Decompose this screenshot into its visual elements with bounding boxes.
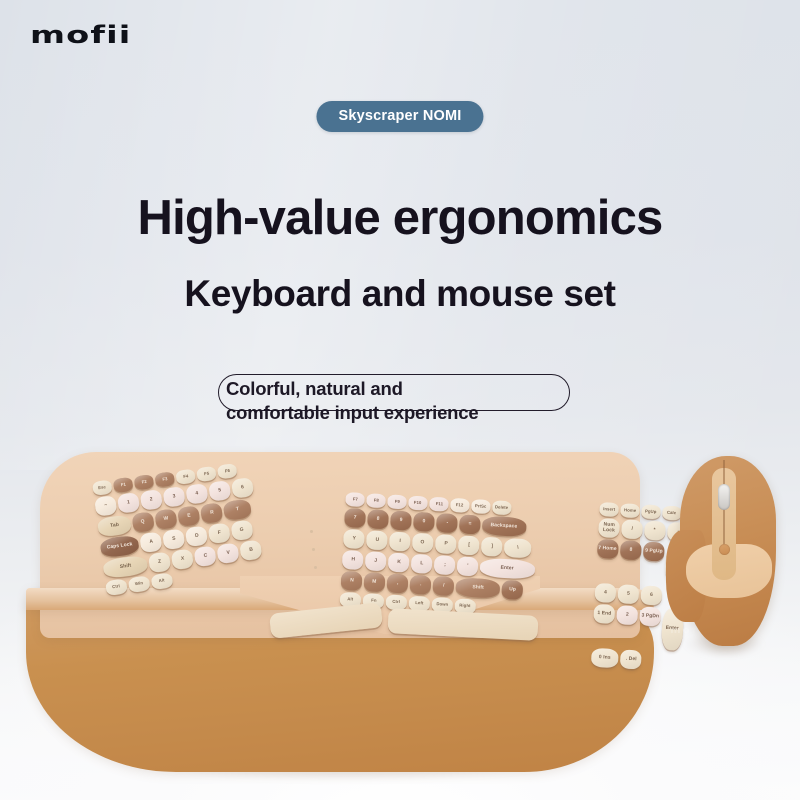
keycap-q: Q bbox=[132, 511, 155, 533]
keycap-t: T bbox=[223, 499, 252, 521]
keycap-enter: Enter bbox=[479, 558, 535, 580]
indicator-led bbox=[314, 566, 317, 569]
indicator-led bbox=[312, 548, 315, 551]
keycap-s: S bbox=[162, 529, 185, 551]
keycap-: ~ bbox=[94, 495, 117, 517]
keycap-6: 6 bbox=[231, 477, 254, 499]
keycap-del: . Del bbox=[620, 649, 642, 669]
keycap-5: 5 bbox=[617, 584, 639, 604]
keycap-: ; bbox=[434, 555, 456, 575]
keycap-j: J bbox=[365, 551, 387, 571]
keycap-8: 8 bbox=[620, 540, 642, 560]
keycap-home: Home bbox=[620, 503, 640, 518]
keycap-: / bbox=[432, 576, 454, 596]
keycap-9: 9 bbox=[390, 511, 412, 531]
keycap-v: V bbox=[216, 543, 239, 565]
keycap-1-end: 1 End bbox=[593, 604, 615, 624]
keycap-up: Up bbox=[501, 580, 523, 600]
keycap-2: 2 bbox=[616, 605, 638, 625]
keycap-delete: Delete bbox=[492, 500, 512, 515]
keycap-f: F bbox=[208, 523, 231, 545]
keycap-w: W bbox=[154, 508, 177, 530]
keycap-: = bbox=[459, 514, 481, 534]
indicator-led bbox=[310, 530, 313, 533]
keycap-f2: F2 bbox=[134, 474, 155, 490]
keycap-prtsc: PrtSc bbox=[471, 499, 491, 514]
keycap-y: Y bbox=[343, 529, 365, 549]
keycap-backspace: Backspace bbox=[482, 516, 527, 537]
keycap-8: 8 bbox=[367, 509, 389, 529]
keycap-g: G bbox=[230, 520, 253, 542]
keycap-3-pgdn: 3 PgDn bbox=[639, 606, 661, 626]
keycap-esc: Esc bbox=[92, 480, 113, 496]
keycap-: , bbox=[386, 573, 408, 593]
keycap-: - bbox=[436, 513, 458, 533]
keycap-o: O bbox=[412, 533, 434, 553]
tagline-text: Colorful, natural and comfortable input … bbox=[226, 377, 646, 425]
keycap-num-lock: Num Lock bbox=[598, 518, 620, 538]
wireless-mouse bbox=[666, 456, 782, 656]
keycap-9-pgup: 9 PgUp bbox=[643, 542, 665, 562]
keycap-l: L bbox=[411, 554, 433, 574]
keycap-insert: Insert bbox=[599, 502, 619, 517]
keycap-4: 4 bbox=[594, 583, 616, 603]
keycap-2: 2 bbox=[140, 489, 163, 511]
keyboard-right-cluster: F7F8F9F10F11F12PrtScDelete7890-=Backspac… bbox=[340, 492, 539, 618]
keycap-7-home: 7 Home bbox=[597, 539, 619, 559]
keycap-f1: F1 bbox=[113, 477, 134, 493]
keycap-: [ bbox=[458, 535, 480, 555]
keycap-x: X bbox=[171, 549, 194, 571]
keycap-: * bbox=[644, 521, 666, 541]
keycap-1: 1 bbox=[117, 492, 140, 514]
keycap-0: 0 bbox=[413, 512, 435, 532]
keycap-: ] bbox=[481, 537, 503, 557]
keycap-win: Win bbox=[128, 575, 151, 593]
keycap-d: D bbox=[185, 526, 208, 548]
keycap-tab: Tab bbox=[97, 514, 132, 537]
keycap-f6: F6 bbox=[217, 463, 238, 479]
keycap-f9: F9 bbox=[387, 494, 407, 509]
keycap-: ' bbox=[457, 556, 479, 576]
keycap-z: Z bbox=[148, 552, 171, 574]
mouse-dpi-button bbox=[719, 544, 730, 555]
keycap-f8: F8 bbox=[366, 493, 386, 508]
keycap-u: U bbox=[366, 530, 388, 550]
keycap-caps-lock: Caps Lock bbox=[100, 535, 140, 559]
product-photo: EscF1F2F3F4F5F6~123456TabQWERTCaps LockA… bbox=[0, 430, 800, 800]
keycap-f11: F11 bbox=[429, 497, 449, 512]
keycap-6: 6 bbox=[640, 585, 662, 605]
keycap-7: 7 bbox=[344, 508, 366, 528]
keycap-i: I bbox=[389, 532, 411, 552]
keycap-5: 5 bbox=[208, 480, 231, 502]
keycap-shift: Shift bbox=[455, 577, 500, 598]
keycap-f3: F3 bbox=[154, 471, 175, 487]
brand-logo: mofii bbox=[30, 22, 131, 50]
keycap-alt: Alt bbox=[151, 572, 174, 590]
keycap-n: N bbox=[341, 571, 363, 591]
keycap-r: R bbox=[200, 502, 223, 524]
keycap-: / bbox=[621, 519, 643, 539]
keycap-e: E bbox=[177, 505, 200, 527]
mouse-scroll-wheel bbox=[718, 484, 730, 510]
keycap-0-ins: 0 Ins bbox=[591, 648, 619, 668]
keyboard-left-cluster: EscF1F2F3F4F5F6~123456TabQWERTCaps LockA… bbox=[92, 461, 265, 596]
keycap-4: 4 bbox=[185, 483, 208, 505]
keycap-c: C bbox=[194, 546, 217, 568]
keycap-: . bbox=[409, 575, 431, 595]
keycap-f4: F4 bbox=[175, 469, 196, 485]
keycap-b: B bbox=[239, 540, 262, 562]
headline-secondary: Keyboard and mouse set bbox=[0, 273, 800, 315]
keycap-p: P bbox=[435, 534, 457, 554]
keycap-a: A bbox=[139, 532, 162, 554]
product-badge: Skyscraper NOMI bbox=[316, 101, 483, 132]
keycap-: \ bbox=[504, 538, 532, 558]
keycap-f5: F5 bbox=[196, 466, 217, 482]
keycap-f12: F12 bbox=[450, 498, 470, 513]
headline-primary: High-value ergonomics bbox=[0, 190, 800, 246]
keycap-f10: F10 bbox=[408, 496, 428, 511]
keycap-h: H bbox=[342, 550, 364, 570]
keycap-k: K bbox=[388, 552, 410, 572]
keycap-3: 3 bbox=[162, 486, 185, 508]
tagline-line-1: Colorful, natural and bbox=[226, 377, 646, 401]
keycap-f7: F7 bbox=[345, 492, 365, 507]
keycap-pgup: PgUp bbox=[641, 504, 661, 519]
keycap-ctrl: Ctrl bbox=[105, 578, 128, 596]
tagline-line-2: comfortable input experience bbox=[226, 401, 646, 425]
keycap-m: M bbox=[363, 572, 385, 592]
